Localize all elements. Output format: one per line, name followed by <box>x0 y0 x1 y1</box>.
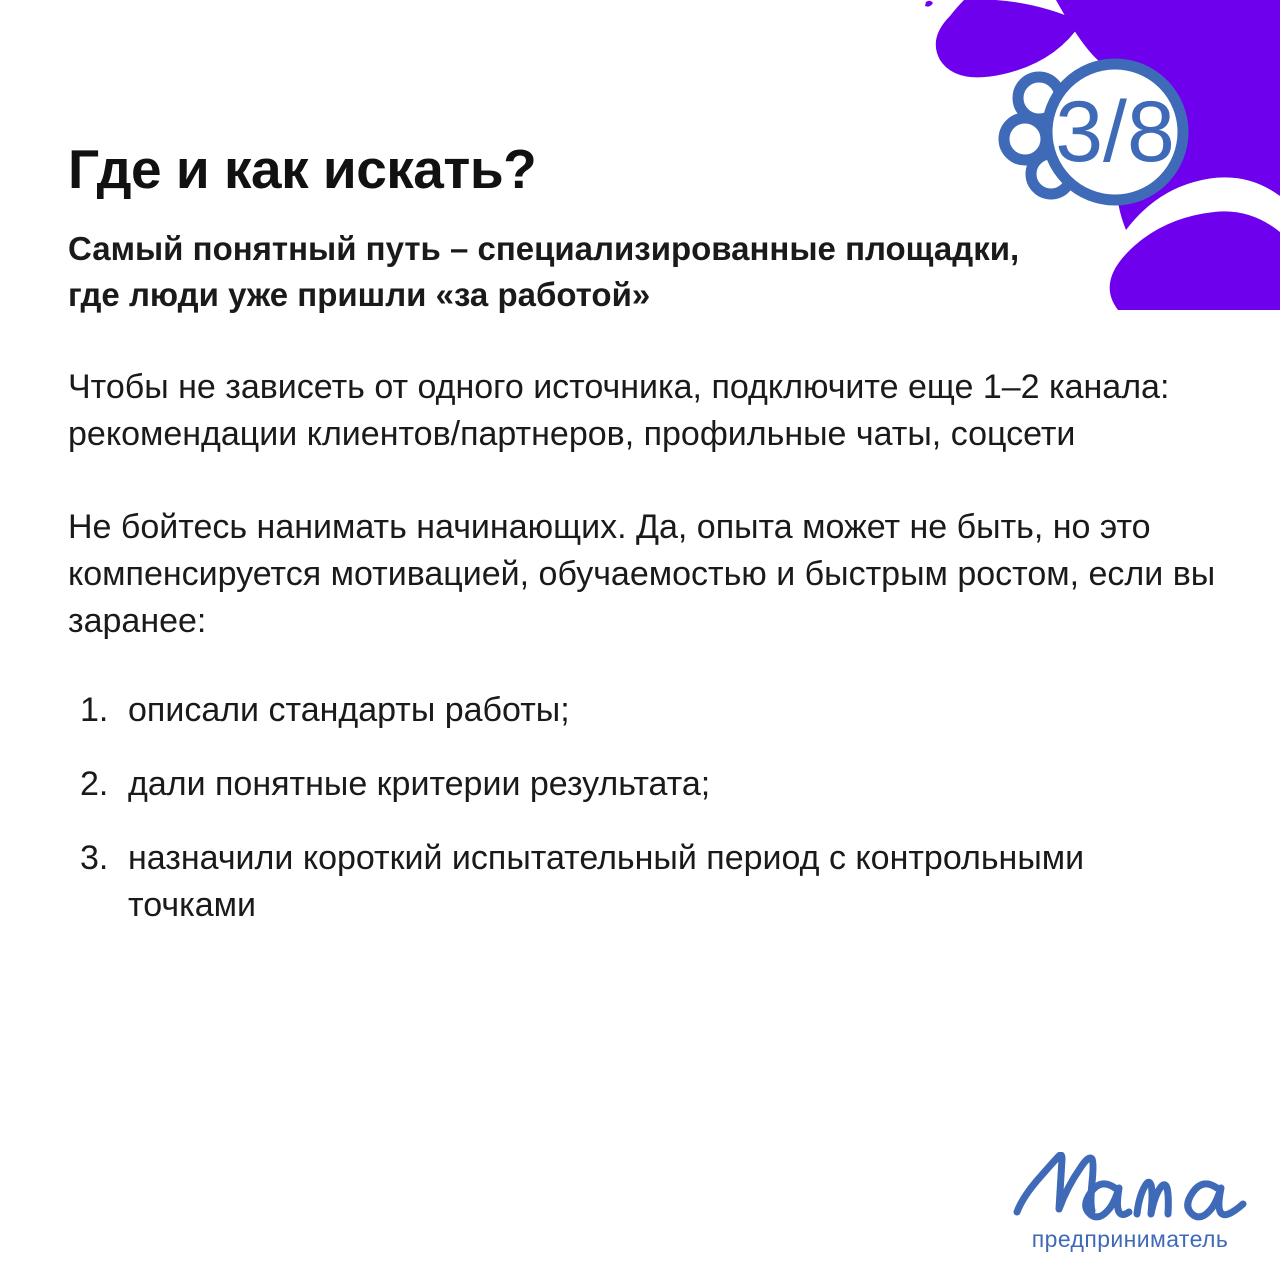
page-title: Где и как искать? <box>68 138 1253 200</box>
list-item-number: 3. <box>80 835 122 882</box>
spacer-2 <box>68 458 1253 504</box>
spacer-1 <box>68 318 1253 364</box>
logo-subtitle: предприниматель <box>1005 1225 1255 1253</box>
list-item: 3. назначили короткий испытательный пери… <box>68 835 1168 929</box>
slide-content: Где и как искать? Самый понятный путь – … <box>68 138 1253 929</box>
list-item-label: назначили короткий испытательный период … <box>128 839 1084 924</box>
list-item: 1. описали стандарты работы; <box>68 687 1168 734</box>
list-item-number: 2. <box>80 761 122 808</box>
slide-canvas: 3/8 3 8 3/8 Где и как искать? Самый поня… <box>0 0 1280 1280</box>
paragraph-one: Чтобы не зависеть от одного источника, п… <box>68 364 1253 458</box>
brand-logo: предприниматель Мама <box>1005 1152 1255 1264</box>
list-item-label: описали стандарты работы; <box>128 691 570 729</box>
requirements-list: 1. описали стандарты работы; 2. дали пон… <box>68 687 1253 929</box>
logo-script-mark <box>1005 1152 1255 1224</box>
paragraph-two: Не бойтесь нанимать начинающих. Да, опыт… <box>68 504 1253 645</box>
slide-subtitle: Самый понятный путь – специализированные… <box>68 226 1068 318</box>
spacer-3 <box>68 645 1253 687</box>
list-item: 2. дали понятные критерии результата; <box>68 761 1168 808</box>
list-item-label: дали понятные критерии результата; <box>128 765 710 803</box>
list-item-number: 1. <box>80 687 122 734</box>
